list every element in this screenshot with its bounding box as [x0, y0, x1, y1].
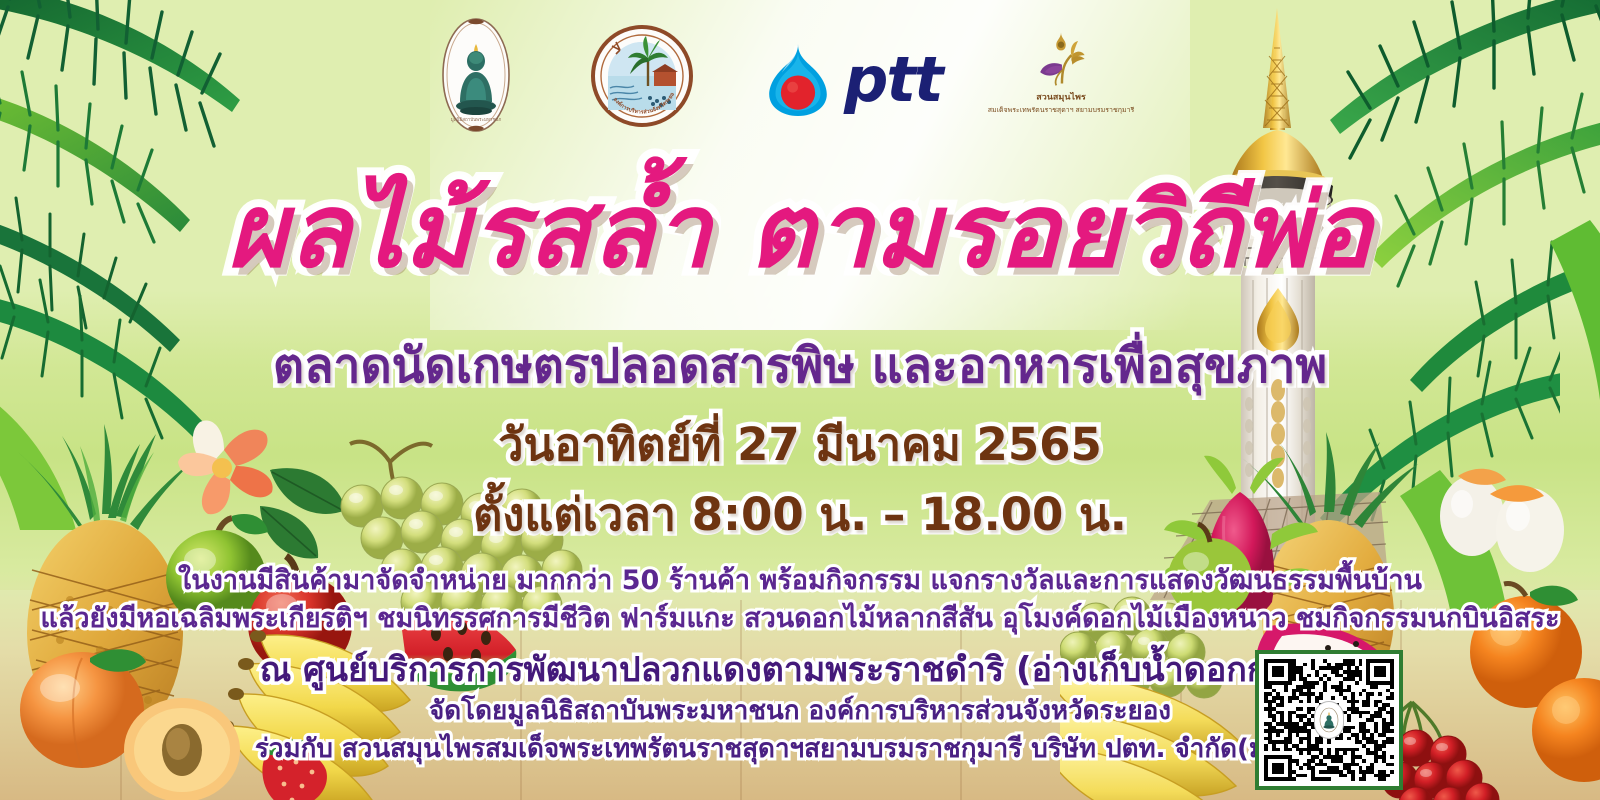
poster-canvas: มูลนิธิสถาบันพระมหาชนก: [0, 0, 1600, 800]
poster-subtitle: ตลาดนัดเกษตรปลอดสารพิษ และอาหารเพื่อสุขภ…: [0, 340, 1600, 393]
svg-text:มูลนิธิสถาบันพระมหาชนก: มูลนิธิสถาบันพระมหาชนก: [451, 117, 502, 123]
rayong-province-seal-logo: องค์การบริหารส่วนจังหวัดระยอง: [590, 24, 694, 128]
herbal-logo-caption-1: สวนสมุนไพร: [1036, 91, 1086, 104]
herbal-garden-logo: สวนสมุนไพร สมเด็จพระเทพรัตนราชสุดาฯ สยาม…: [986, 28, 1136, 138]
event-detail-line-2: แล้วยังมีหอเฉลิมพระเกียรติฯ ชมนิทรรศการม…: [0, 596, 1600, 639]
ptt-logo: ptt: [762, 38, 958, 122]
logo-row: มูลนิธิสถาบันพระมหาชนก: [420, 16, 1200, 146]
event-detail-line-1: ในงานมีสินค้ามาจัดจำหน่าย มากกว่า 50 ร้า…: [0, 558, 1600, 601]
buddha-oval-logo: มูลนิธิสถาบันพระมหาชนก: [440, 16, 512, 134]
event-date-line: วันอาทิตย์ที่ 27 มีนาคม 2565: [0, 420, 1600, 470]
ptt-wordmark: ptt: [844, 49, 942, 111]
herbal-plant-icon: [1009, 28, 1113, 88]
qr-code-pattern: [1264, 659, 1394, 781]
poster-headline: ผลไม้รสล้ำ ตามรอยวิถีพ่อ: [0, 178, 1600, 285]
herbal-logo-caption-2: สมเด็จพระเทพรัตนราชสุดาฯ สยามบรมราชกุมาร…: [988, 106, 1135, 116]
qr-center-buddha-logo: [1314, 701, 1344, 739]
event-time-line: ตั้งแต่เวลา 8:00 น. – 18.00 น.: [0, 490, 1600, 540]
ptt-flame-icon: [762, 41, 834, 119]
qr-code[interactable]: [1255, 650, 1403, 790]
